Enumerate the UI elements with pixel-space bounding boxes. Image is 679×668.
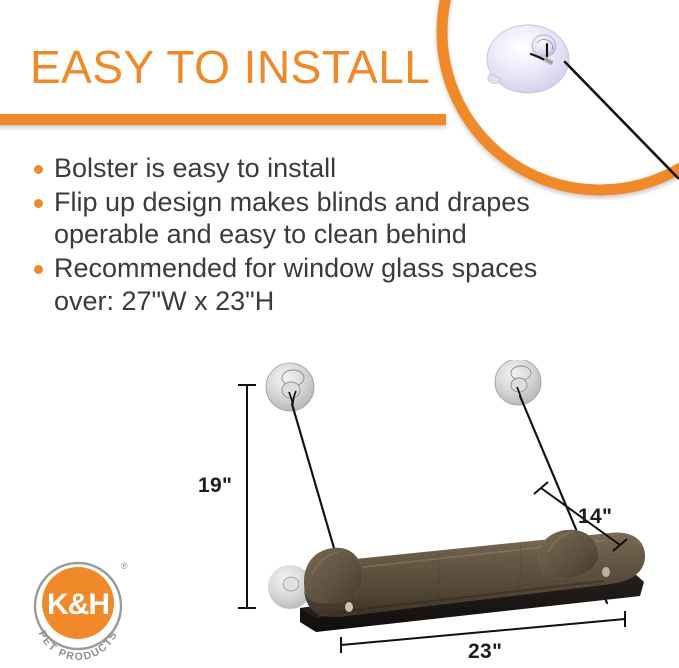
- list-item: Bolster is easy to install: [28, 152, 628, 184]
- bolster-cushion-left-arm: [304, 548, 363, 603]
- logo-registered-mark: ®: [121, 561, 128, 571]
- orange-rule: [0, 114, 446, 125]
- dimension-label-depth: 14": [578, 505, 612, 529]
- bullet-dot-icon: [34, 165, 43, 174]
- list-item-label-line2: over: 27"W x 23"H: [54, 285, 628, 317]
- bullet-dot-icon: [34, 199, 43, 208]
- logo-wordmark: K&H: [47, 588, 109, 621]
- dimension-label-height: 19": [198, 474, 232, 498]
- product-suction-cup-right: [495, 360, 541, 405]
- brand-logo: K&H ® PET PRODUCTS: [22, 552, 134, 664]
- product-suction-cup-left: [266, 363, 314, 411]
- bullet-dot-icon: [34, 265, 43, 274]
- dimension-line-height: [238, 385, 256, 608]
- infographic-page: EASY TO INSTALL Bolster is easy to insta…: [0, 0, 679, 668]
- page-title: EASY TO INSTALL: [30, 44, 430, 90]
- dimension-label-width: 23": [468, 640, 502, 664]
- list-item: Recommended for window glass spaces over…: [28, 252, 628, 316]
- feature-list: Bolster is easy to install Flip up desig…: [28, 152, 628, 319]
- list-item-label: Bolster is easy to install: [54, 153, 336, 183]
- list-item-label-line2: operable and easy to clean behind: [54, 218, 628, 250]
- list-item-label: Flip up design makes blinds and drapes: [54, 187, 530, 217]
- list-item: Flip up design makes blinds and drapes o…: [28, 186, 628, 250]
- list-item-label: Recommended for window glass spaces: [54, 253, 537, 283]
